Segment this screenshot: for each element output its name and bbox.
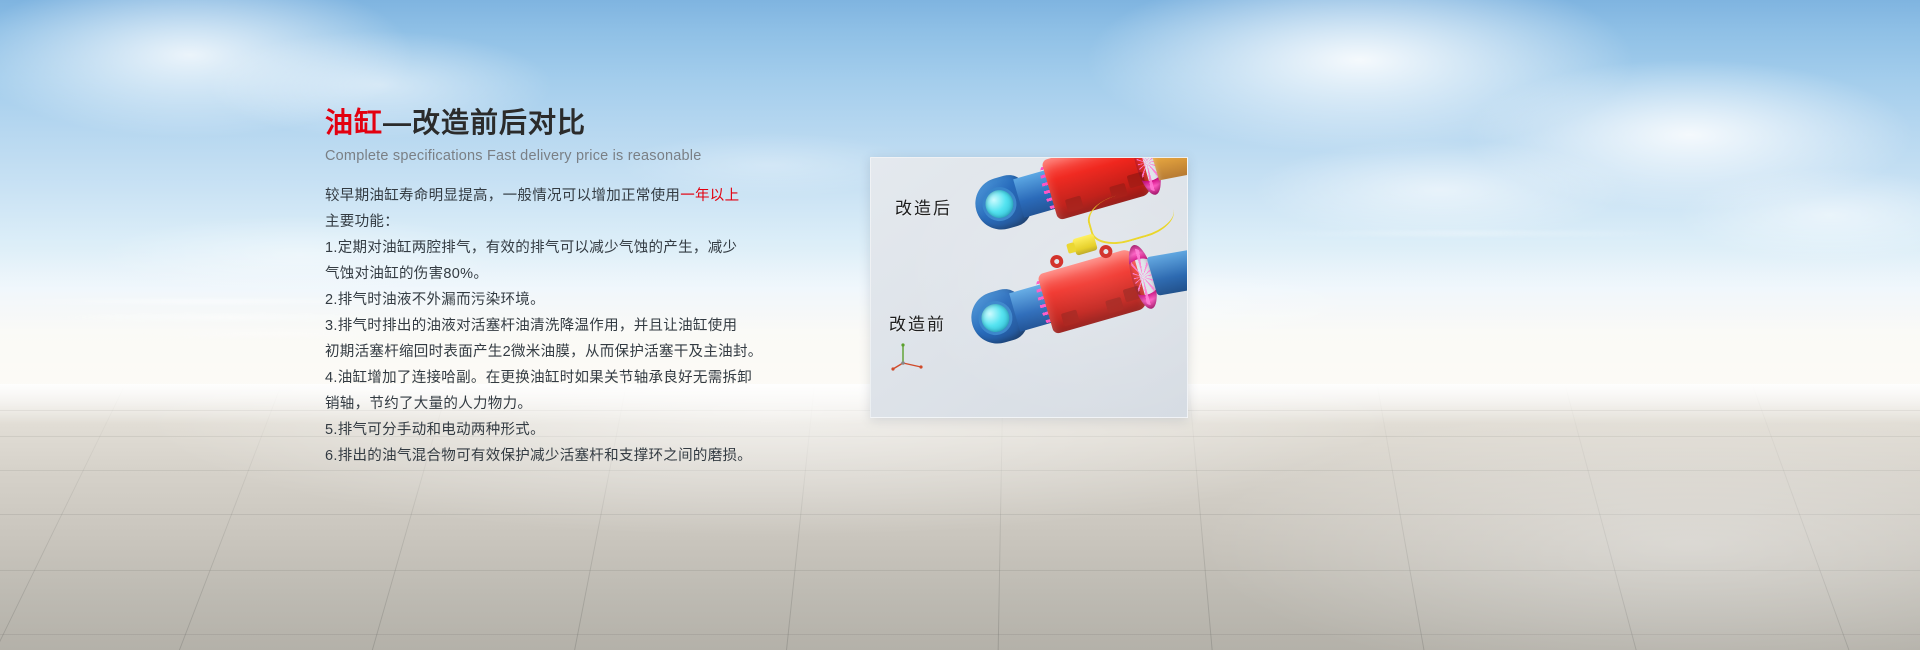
exhaust-valve-icon: [1072, 233, 1098, 255]
body-line: 6.排出的油气混合物可有效保护减少活塞杆和支撑环之间的磨损。: [325, 443, 885, 469]
body-line: 气蚀对油缸的伤害80%。: [325, 261, 885, 287]
product-comparison-image[interactable]: 改造后 改造前: [870, 157, 1188, 418]
coordinate-triad-icon: [891, 341, 925, 371]
feature-description: 较早期油缸寿命明显提高，一般情况可以增加正常使用一年以上 主要功能： 1.定期对…: [325, 183, 885, 469]
body-line: 初期活塞杆缩回时表面产生2微米油膜，从而保护活塞干及主油封。: [325, 339, 885, 365]
promo-banner: 油缸—改造前后对比 Complete specifications Fast d…: [0, 0, 1920, 650]
body-line-text: 6.排出的油气混合物可有效保护减少活塞杆和支撑环之间的磨损。: [325, 448, 752, 464]
body-line-text: 3.排气时排出的油液对活塞杆油清洗降温作用，并且让油缸使用: [325, 318, 737, 334]
cloud-shape: [1180, 120, 1700, 260]
body-line-text: 气蚀对油缸的伤害80%。: [325, 266, 488, 282]
promo-text-block: 油缸—改造前后对比 Complete specifications Fast d…: [325, 106, 885, 469]
body-line-emphasis: 一年以上: [680, 188, 739, 204]
bearing-bore: [982, 187, 1017, 222]
body-line-text: 1.定期对油缸两腔排气，有效的排气可以减少气蚀的产生，减少: [325, 240, 737, 256]
body-line: 5.排气可分手动和电动两种形式。: [325, 417, 885, 443]
page-title-highlight: 油缸: [325, 107, 383, 138]
cloud-streak: [1260, 232, 1680, 235]
body-line: 4.油缸增加了连接哈副。在更换油缸时如果关节轴承良好无需拆卸: [325, 365, 885, 391]
page-title: 油缸—改造前后对比: [325, 106, 885, 140]
body-line: 3.排气时排出的油液对活塞杆油清洗降温作用，并且让油缸使用: [325, 313, 885, 339]
body-line-text: 4.油缸增加了连接哈副。在更换油缸时如果关节轴承良好无需拆卸: [325, 370, 752, 386]
body-line: 2.排气时油液不外漏而污染环境。: [325, 287, 885, 313]
body-line: 1.定期对油缸两腔排气，有效的排气可以减少气蚀的产生，减少: [325, 235, 885, 261]
body-line-text: 5.排气可分手动和电动两种形式。: [325, 422, 545, 438]
body-line: 销轴，节约了大量的人力物力。: [325, 391, 885, 417]
body-line-text: 销轴，节约了大量的人力物力。: [325, 396, 532, 412]
body-line: 主要功能：: [325, 209, 885, 235]
ground-shading: [0, 384, 1920, 650]
cloud-shape: [1380, 30, 1920, 240]
label-before-modification: 改造前: [889, 310, 946, 335]
label-after-modification: 改造后: [895, 194, 952, 219]
body-line-text: 初期活塞杆缩回时表面产生2微米油膜，从而保护活塞干及主油封。: [325, 344, 763, 360]
page-subtitle: Complete specifications Fast delivery pr…: [325, 146, 885, 166]
body-line-text: 较早期油缸寿命明显提高，一般情况可以增加正常使用: [325, 188, 680, 204]
bearing-bore: [978, 301, 1013, 336]
page-title-rest: —改造前后对比: [383, 107, 586, 138]
body-line: 较早期油缸寿命明显提高，一般情况可以增加正常使用一年以上: [325, 183, 885, 209]
ground-plaza: [0, 384, 1920, 650]
body-line-text: 主要功能：: [325, 214, 399, 230]
body-line-text: 2.排气时油液不外漏而污染环境。: [325, 292, 545, 308]
